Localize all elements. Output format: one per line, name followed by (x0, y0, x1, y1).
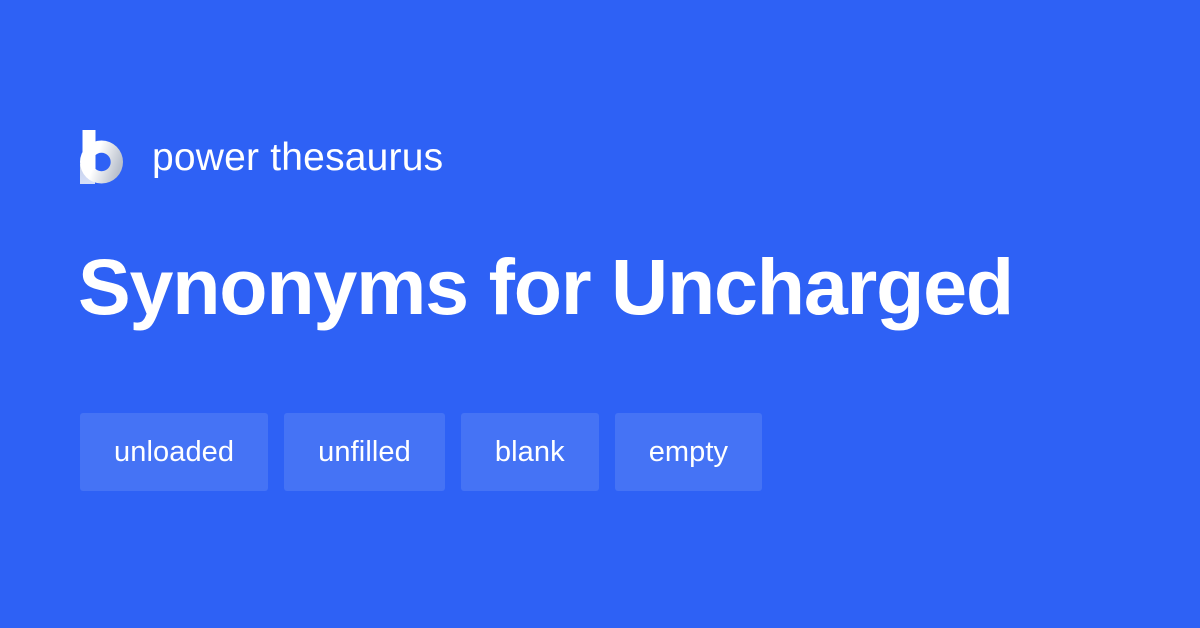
synonym-tag[interactable]: blank (461, 413, 599, 491)
power-thesaurus-b-logo-icon (80, 130, 124, 184)
brand-name: power thesaurus (152, 138, 443, 177)
synonym-tag[interactable]: unfilled (284, 413, 445, 491)
og-card: power thesaurus Synonyms for Uncharged u… (0, 0, 1200, 628)
synonym-tag[interactable]: empty (615, 413, 762, 491)
page-title: Synonyms for Uncharged (78, 246, 1128, 329)
synonym-tag-list: unloaded unfilled blank empty (80, 413, 1140, 491)
synonym-tag[interactable]: unloaded (80, 413, 268, 491)
brand-lockup[interactable]: power thesaurus (80, 128, 443, 186)
